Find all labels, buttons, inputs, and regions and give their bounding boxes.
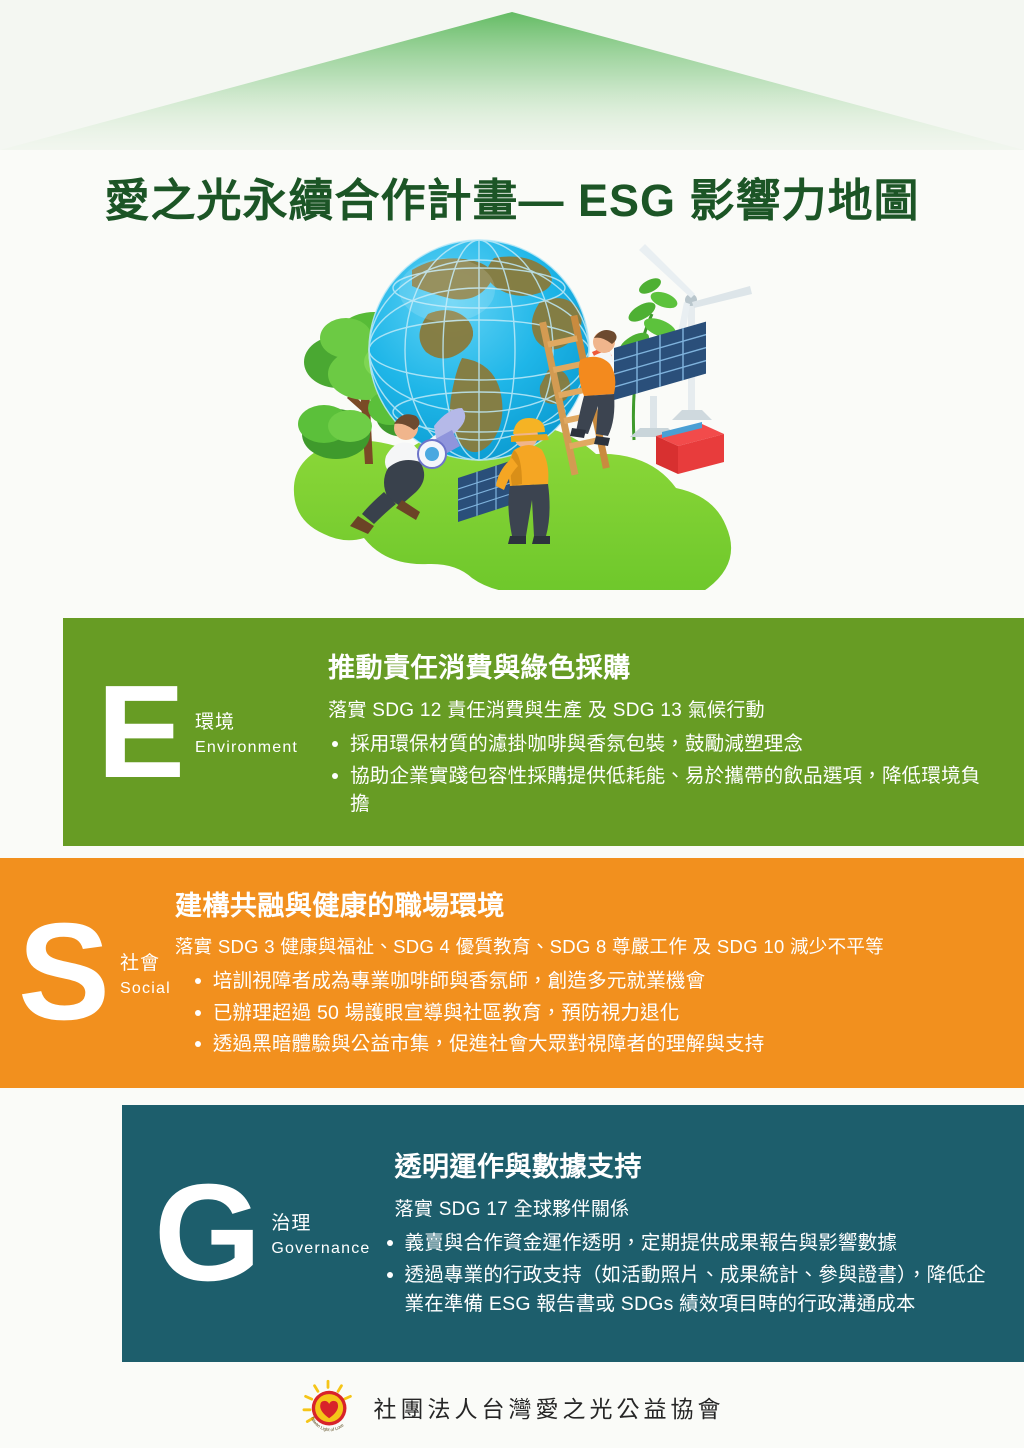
band-sdg-social: 落實 SDG 3 健康與福祉、SDG 4 優質教育、SDG 8 尊嚴工作 及 S… <box>175 933 1000 959</box>
band-body-governance: 透明運作與數據支持 落實 SDG 17 全球夥伴關係 義賣與合作資金運作透明，定… <box>371 1145 1024 1322</box>
band-letter-group-social: S 社會 Social <box>0 914 171 1031</box>
band-letter-g: G <box>154 1175 261 1292</box>
band-heading-social: 建構共融與健康的職場環境 <box>175 884 1000 923</box>
list-item: 培訓視障者成為專業咖啡師與香氛師，創造多元就業機會 <box>191 967 1000 996</box>
band-letter-group-governance: G 治理 Governance <box>122 1175 371 1292</box>
band-label-en-governance: Governance <box>271 1240 370 1258</box>
band-label-zh-governance: 治理 <box>271 1208 370 1235</box>
band-label-zh-social: 社會 <box>120 948 171 975</box>
band-label-governance: 治理 Governance <box>271 1208 370 1258</box>
band-label-zh-environment: 環境 <box>195 707 298 734</box>
band-bullets-governance: 義賣與合作資金運作透明，定期提供成果報告與影響數據 透過專業的行政支持（如活動照… <box>383 1229 1000 1319</box>
footer-org-name: 社團法人台灣愛之光公益協會 <box>374 1390 725 1424</box>
esg-band-governance: G 治理 Governance 透明運作與數據支持 落實 SDG 17 全球夥伴… <box>122 1105 1024 1362</box>
list-item: 採用環保材質的濾掛咖啡與香氛包裝，鼓勵減塑理念 <box>328 730 1000 759</box>
band-heading-governance: 透明運作與數據支持 <box>383 1145 1000 1184</box>
list-item: 已辦理超過 50 場護眼宣導與社區教育，預防視力退化 <box>191 999 1000 1028</box>
list-item: 透過專業的行政支持（如活動照片、成果統計、參與證書），降低企業在準備 ESG 報… <box>383 1261 1000 1319</box>
band-bullets-social: 培訓視障者成為專業咖啡師與香氛師，創造多元就業機會 已辦理超過 50 場護眼宣導… <box>175 967 1000 1060</box>
band-sdg-governance: 落實 SDG 17 全球夥伴關係 <box>383 1194 1000 1221</box>
association-logo-icon: Taiwan Light of Love <box>300 1379 356 1435</box>
header-chevron-decoration <box>0 0 1024 150</box>
band-letter-e: E <box>97 676 185 788</box>
band-label-environment: 環境 Environment <box>195 707 298 757</box>
band-label-en-social: Social <box>120 980 171 998</box>
list-item: 協助企業實踐包容性採購提供低耗能、易於攜帶的飲品選項，降低環境負擔 <box>328 762 1000 820</box>
esg-band-social: S 社會 Social 建構共融與健康的職場環境 落實 SDG 3 健康與福祉、… <box>0 858 1024 1088</box>
band-body-social: 建構共融與健康的職場環境 落實 SDG 3 健康與福祉、SDG 4 優質教育、S… <box>171 884 1024 1063</box>
band-heading-environment: 推動責任消費與綠色採購 <box>328 646 1000 685</box>
list-item: 透過黑暗體驗與公益市集，促進社會大眾對視障者的理解與支持 <box>191 1030 1000 1059</box>
band-bullets-environment: 採用環保材質的濾掛咖啡與香氛包裝，鼓勵減塑理念 協助企業實踐包容性採購提供低耗能… <box>328 730 1000 820</box>
band-label-en-environment: Environment <box>195 739 298 757</box>
band-body-environment: 推動責任消費與綠色採購 落實 SDG 12 責任消費與生產 及 SDG 13 氣… <box>298 642 1024 823</box>
band-label-social: 社會 Social <box>120 948 171 998</box>
hero-illustration <box>262 210 762 590</box>
list-item: 義賣與合作資金運作透明，定期提供成果報告與影響數據 <box>383 1229 1000 1258</box>
esg-band-environment: E 環境 Environment 推動責任消費與綠色採購 落實 SDG 12 責… <box>63 618 1024 846</box>
band-letter-s: S <box>18 914 110 1031</box>
band-sdg-environment: 落實 SDG 12 責任消費與生產 及 SDG 13 氣候行動 <box>328 695 1000 722</box>
band-letter-group-environment: E 環境 Environment <box>63 676 298 788</box>
footer: Taiwan Light of Love 社團法人台灣愛之光公益協會 <box>0 1374 1024 1440</box>
